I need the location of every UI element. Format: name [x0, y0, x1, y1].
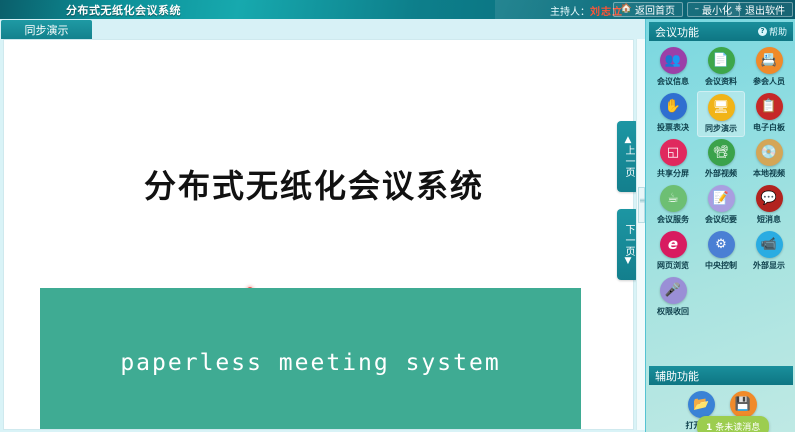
function-item-label: 会议信息 [657, 76, 689, 87]
function-item-label: 电子白板 [753, 122, 785, 133]
function-item-gear[interactable]: ⚙中央控制 [697, 229, 745, 275]
function-item-chat-bubble[interactable]: 💬短消息 [745, 183, 793, 229]
function-item-whiteboard[interactable]: 📋电子白板 [745, 91, 793, 137]
function-item-external-video[interactable]: 📽外部视频 [697, 137, 745, 183]
local-video-icon: 💿 [756, 139, 783, 166]
application-window: 分布式无纸化会议系统 主持人：刘志立 🏠 返回首页 – 最小化 ⎈ 退出软件 同… [0, 0, 795, 432]
function-item-local-video[interactable]: 💿本地视频 [745, 137, 793, 183]
function-item-label: 外部视频 [705, 168, 737, 179]
unread-text: 条未读消息 [715, 423, 760, 432]
function-item-label: 会议资料 [705, 76, 737, 87]
function-item-projector[interactable]: 🖥同步演示 [697, 91, 745, 137]
exit-button-label: 退出软件 [745, 2, 785, 17]
function-item-label: 参会人员 [753, 76, 785, 87]
function-item-coffee-cup[interactable]: ☕会议服务 [649, 183, 697, 229]
browser-e-icon: e [660, 231, 687, 258]
save-disk-icon: 💾 [730, 391, 757, 418]
whiteboard-icon: 📋 [756, 93, 783, 120]
panel-header: 会议功能 ? 帮助 [649, 22, 793, 41]
function-item-label: 权限收回 [657, 306, 689, 317]
function-item-people[interactable]: 👥会议信息 [649, 45, 697, 91]
help-button[interactable]: ? 帮助 [758, 25, 787, 38]
exit-button[interactable]: ⎈ 退出软件 [727, 2, 793, 17]
documents-icon: 📄 [708, 47, 735, 74]
presentation-pane: 同步演示 分布式无纸化会议系统 paperless meeting system… [0, 19, 645, 432]
chat-bubble-icon: 💬 [756, 185, 783, 212]
host-label: 主持人： [550, 7, 590, 18]
gear-icon: ⚙ [708, 231, 735, 258]
unread-count: 1 [706, 423, 712, 432]
meeting-function-panel: 会议功能 ? 帮助 👥会议信息📄会议资料📇参会人员✋投票表决🖥同步演示📋电子白板… [645, 19, 795, 432]
slide-canvas[interactable]: 分布式无纸化会议系统 paperless meeting system [3, 39, 634, 430]
scrollbar-thumb[interactable] [638, 187, 645, 223]
home-button-label: 返回首页 [635, 2, 675, 17]
microphone-icon: 🎤 [660, 277, 687, 304]
people-icon: 👥 [660, 47, 687, 74]
function-item-label: 会议服务 [657, 214, 689, 225]
home-icon: 🏠 [621, 5, 632, 14]
title-bar: 分布式无纸化会议系统 主持人：刘志立 🏠 返回首页 – 最小化 ⎈ 退出软件 [0, 0, 795, 19]
minutes-icon: 📝 [708, 185, 735, 212]
minimize-icon: – [695, 5, 700, 14]
projector-icon: 🖥 [708, 94, 735, 121]
function-item-label: 同步演示 [705, 123, 737, 134]
app-title: 分布式无纸化会议系统 [66, 2, 181, 18]
tab-sync-presentation[interactable]: 同步演示 [1, 20, 92, 39]
tab-label: 同步演示 [25, 22, 69, 38]
question-mark-icon: ? [758, 27, 767, 36]
function-item-label: 本地视频 [753, 168, 785, 179]
split-screen-icon: ◱ [660, 139, 687, 166]
help-label: 帮助 [769, 25, 787, 38]
video-camera-icon: 📹 [756, 231, 783, 258]
slide-subtitle-text: paperless meeting system [120, 350, 500, 376]
unread-message-toast[interactable]: 1条未读消息 [697, 416, 769, 432]
function-item-minutes[interactable]: 📝会议纪要 [697, 183, 745, 229]
function-item-split-screen[interactable]: ◱共享分屏 [649, 137, 697, 183]
function-item-label: 中央控制 [705, 260, 737, 271]
slide-subtitle-band: paperless meeting system [40, 288, 581, 430]
slide-title: 分布式无纸化会议系统 [4, 161, 624, 207]
function-item-label: 投票表决 [657, 122, 689, 133]
next-page-label: 下一页 [622, 224, 634, 257]
id-card-icon: 📇 [756, 47, 783, 74]
function-item-documents[interactable]: 📄会议资料 [697, 45, 745, 91]
chevron-up-icon: ▲ [625, 136, 632, 145]
function-item-label: 共享分屏 [657, 168, 689, 179]
chevron-down-icon: ▼ [625, 257, 632, 266]
auxiliary-title: 辅助功能 [655, 368, 699, 384]
previous-page-label: 上一页 [622, 145, 634, 178]
function-item-raised-hand[interactable]: ✋投票表决 [649, 91, 697, 137]
function-item-label: 外部显示 [753, 260, 785, 271]
home-button[interactable]: 🏠 返回首页 [613, 2, 683, 17]
open-folder-icon: 📂 [688, 391, 715, 418]
function-item-microphone[interactable]: 🎤权限收回 [649, 275, 697, 321]
function-item-label: 会议纪要 [705, 214, 737, 225]
vertical-scrollbar[interactable] [636, 39, 645, 430]
coffee-cup-icon: ☕ [660, 185, 687, 212]
power-icon: ⎈ [735, 5, 742, 14]
auxiliary-header: 辅助功能 [649, 366, 793, 385]
tab-strip: 同步演示 [0, 19, 645, 39]
function-item-label: 网页浏览 [657, 260, 689, 271]
function-item-label: 短消息 [757, 214, 781, 225]
function-item-browser-e[interactable]: e网页浏览 [649, 229, 697, 275]
raised-hand-icon: ✋ [660, 93, 687, 120]
external-video-icon: 📽 [708, 139, 735, 166]
function-item-id-card[interactable]: 📇参会人员 [745, 45, 793, 91]
function-icon-grid: 👥会议信息📄会议资料📇参会人员✋投票表决🖥同步演示📋电子白板◱共享分屏📽外部视频… [649, 45, 793, 321]
function-item-video-camera[interactable]: 📹外部显示 [745, 229, 793, 275]
panel-title: 会议功能 [655, 24, 758, 40]
